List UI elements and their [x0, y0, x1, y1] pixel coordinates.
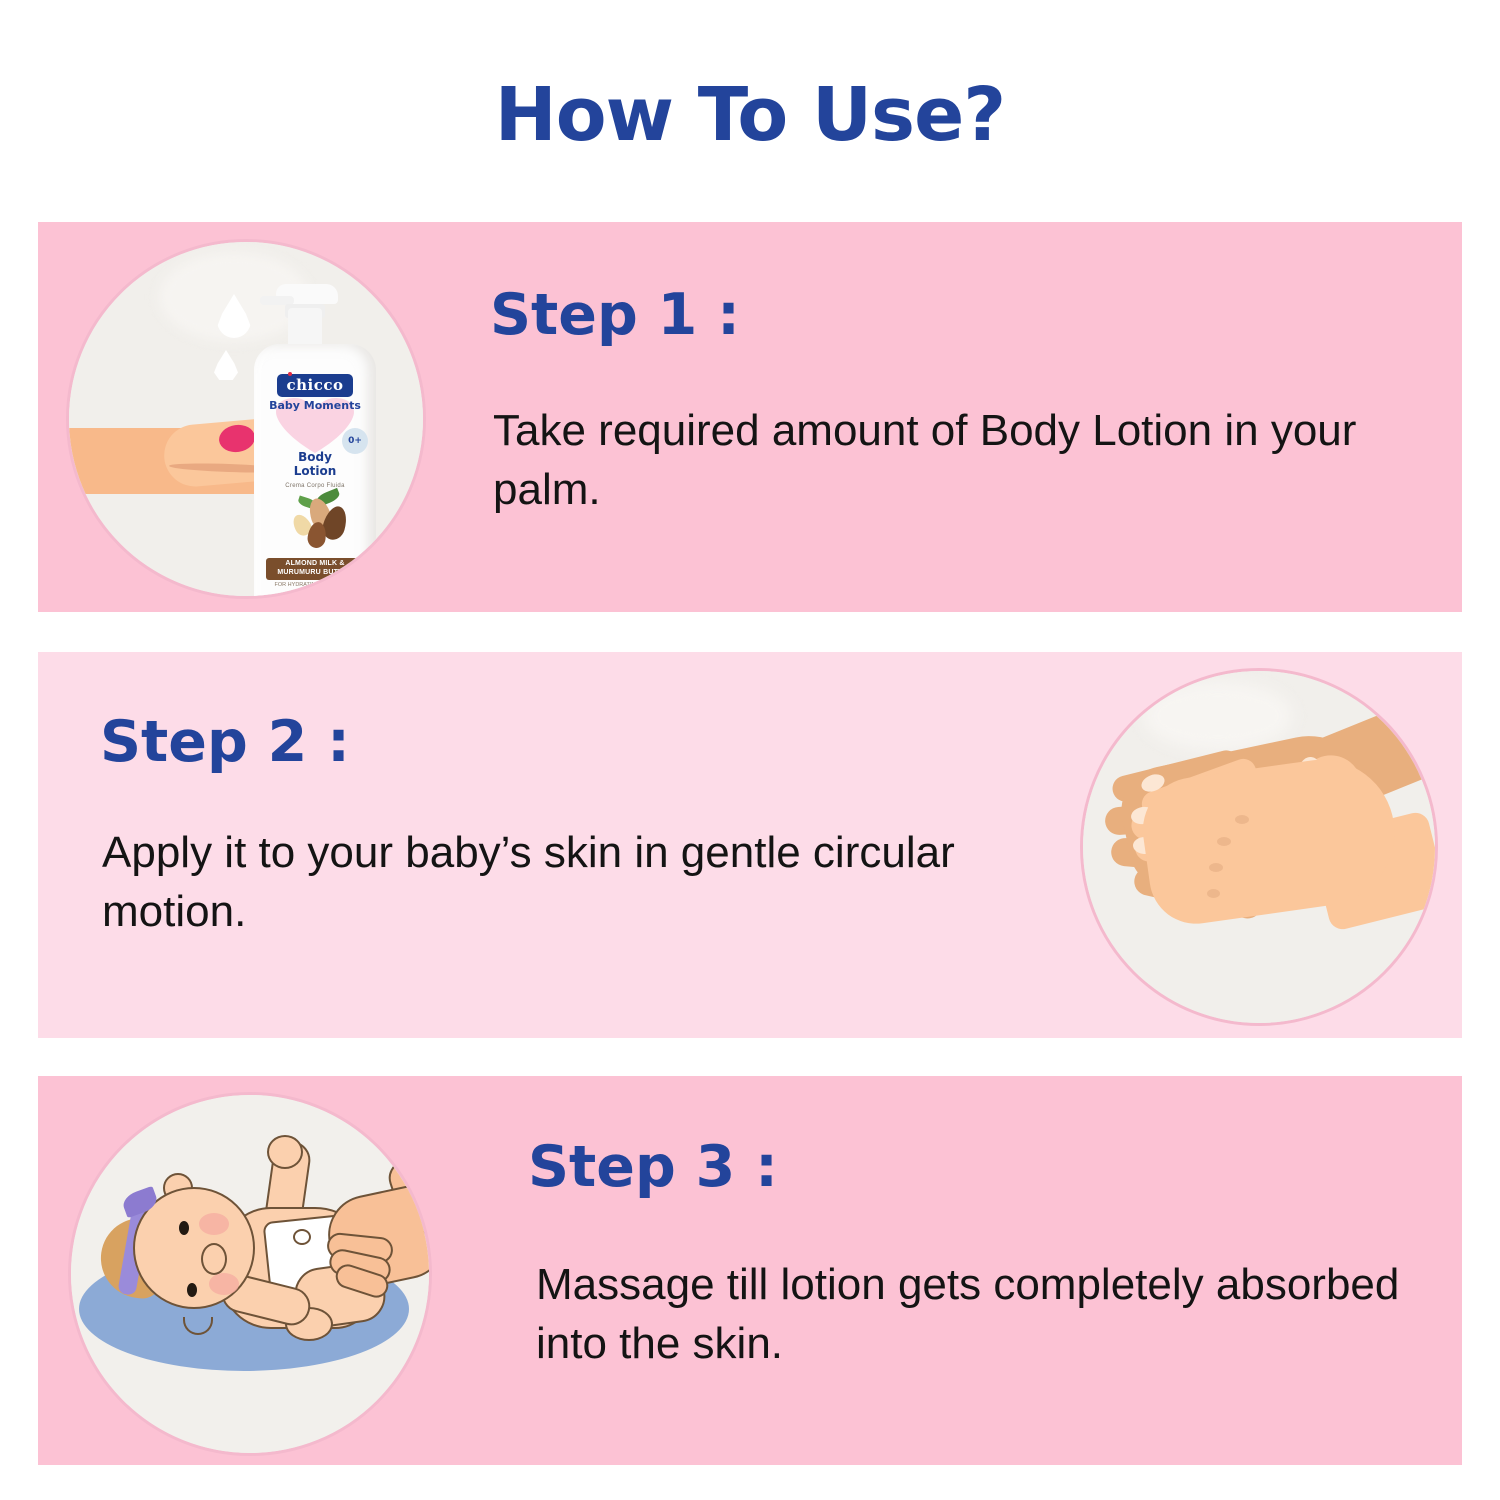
step-3-heading: Step 3 : — [528, 1134, 778, 1200]
baby-eye — [179, 1221, 189, 1235]
step-1-body: Take required amount of Body Lotion in y… — [493, 402, 1413, 519]
product-name: Body Lotion — [254, 450, 376, 479]
step-2-body: Apply it to your baby’s skin in gentle c… — [102, 824, 1002, 941]
step-2-illustration — [1080, 668, 1438, 1026]
step-2-panel: Step 2 : Apply it to your baby’s skin in… — [38, 652, 1462, 1038]
baby-navel — [293, 1229, 311, 1245]
knuckle-dot — [1217, 837, 1231, 846]
background-sheen — [1143, 681, 1293, 751]
step-1-illustration: chicco Baby Moments 0+ Body Lotion Crema… — [66, 239, 426, 599]
variant-banner: ALMOND MILK & MURUMURU BUTTER — [266, 558, 364, 580]
almond-illustration — [280, 494, 354, 552]
chicco-badge: chicco — [277, 374, 352, 397]
brand-logo: chicco — [254, 374, 376, 397]
step-2-heading: Step 2 : — [100, 709, 350, 775]
baby-cheek — [199, 1213, 229, 1235]
product-name-line2: Lotion — [294, 464, 337, 478]
brand-name: chicco — [286, 376, 343, 394]
baby-cheek — [209, 1273, 239, 1295]
step-3-body: Massage till lotion gets completely abso… — [536, 1256, 1436, 1373]
baby-hand — [267, 1135, 303, 1169]
step-3-panel: Step 3 : Massage till lotion gets comple… — [38, 1076, 1462, 1465]
step-3-illustration — [68, 1092, 432, 1456]
product-italian-name: Crema Corpo Fluida — [254, 483, 376, 489]
knuckle-dot — [1207, 889, 1220, 898]
variant-subtext: FOR HYDRATING SKIN & EASY ABSORPTION — [266, 582, 364, 596]
lotion-bottle: chicco Baby Moments 0+ Body Lotion Crema… — [254, 280, 376, 599]
baby-nose — [201, 1243, 227, 1275]
baby-eye — [187, 1283, 197, 1297]
knuckle-dot — [1209, 863, 1223, 872]
page-title: How To Use? — [0, 72, 1500, 158]
product-range: Baby Moments — [254, 400, 376, 413]
product-name-line1: Body — [298, 450, 332, 464]
step-1-panel: chicco Baby Moments 0+ Body Lotion Crema… — [38, 222, 1462, 612]
step-1-heading: Step 1 : — [490, 282, 740, 348]
knuckle-dot — [1235, 815, 1249, 824]
